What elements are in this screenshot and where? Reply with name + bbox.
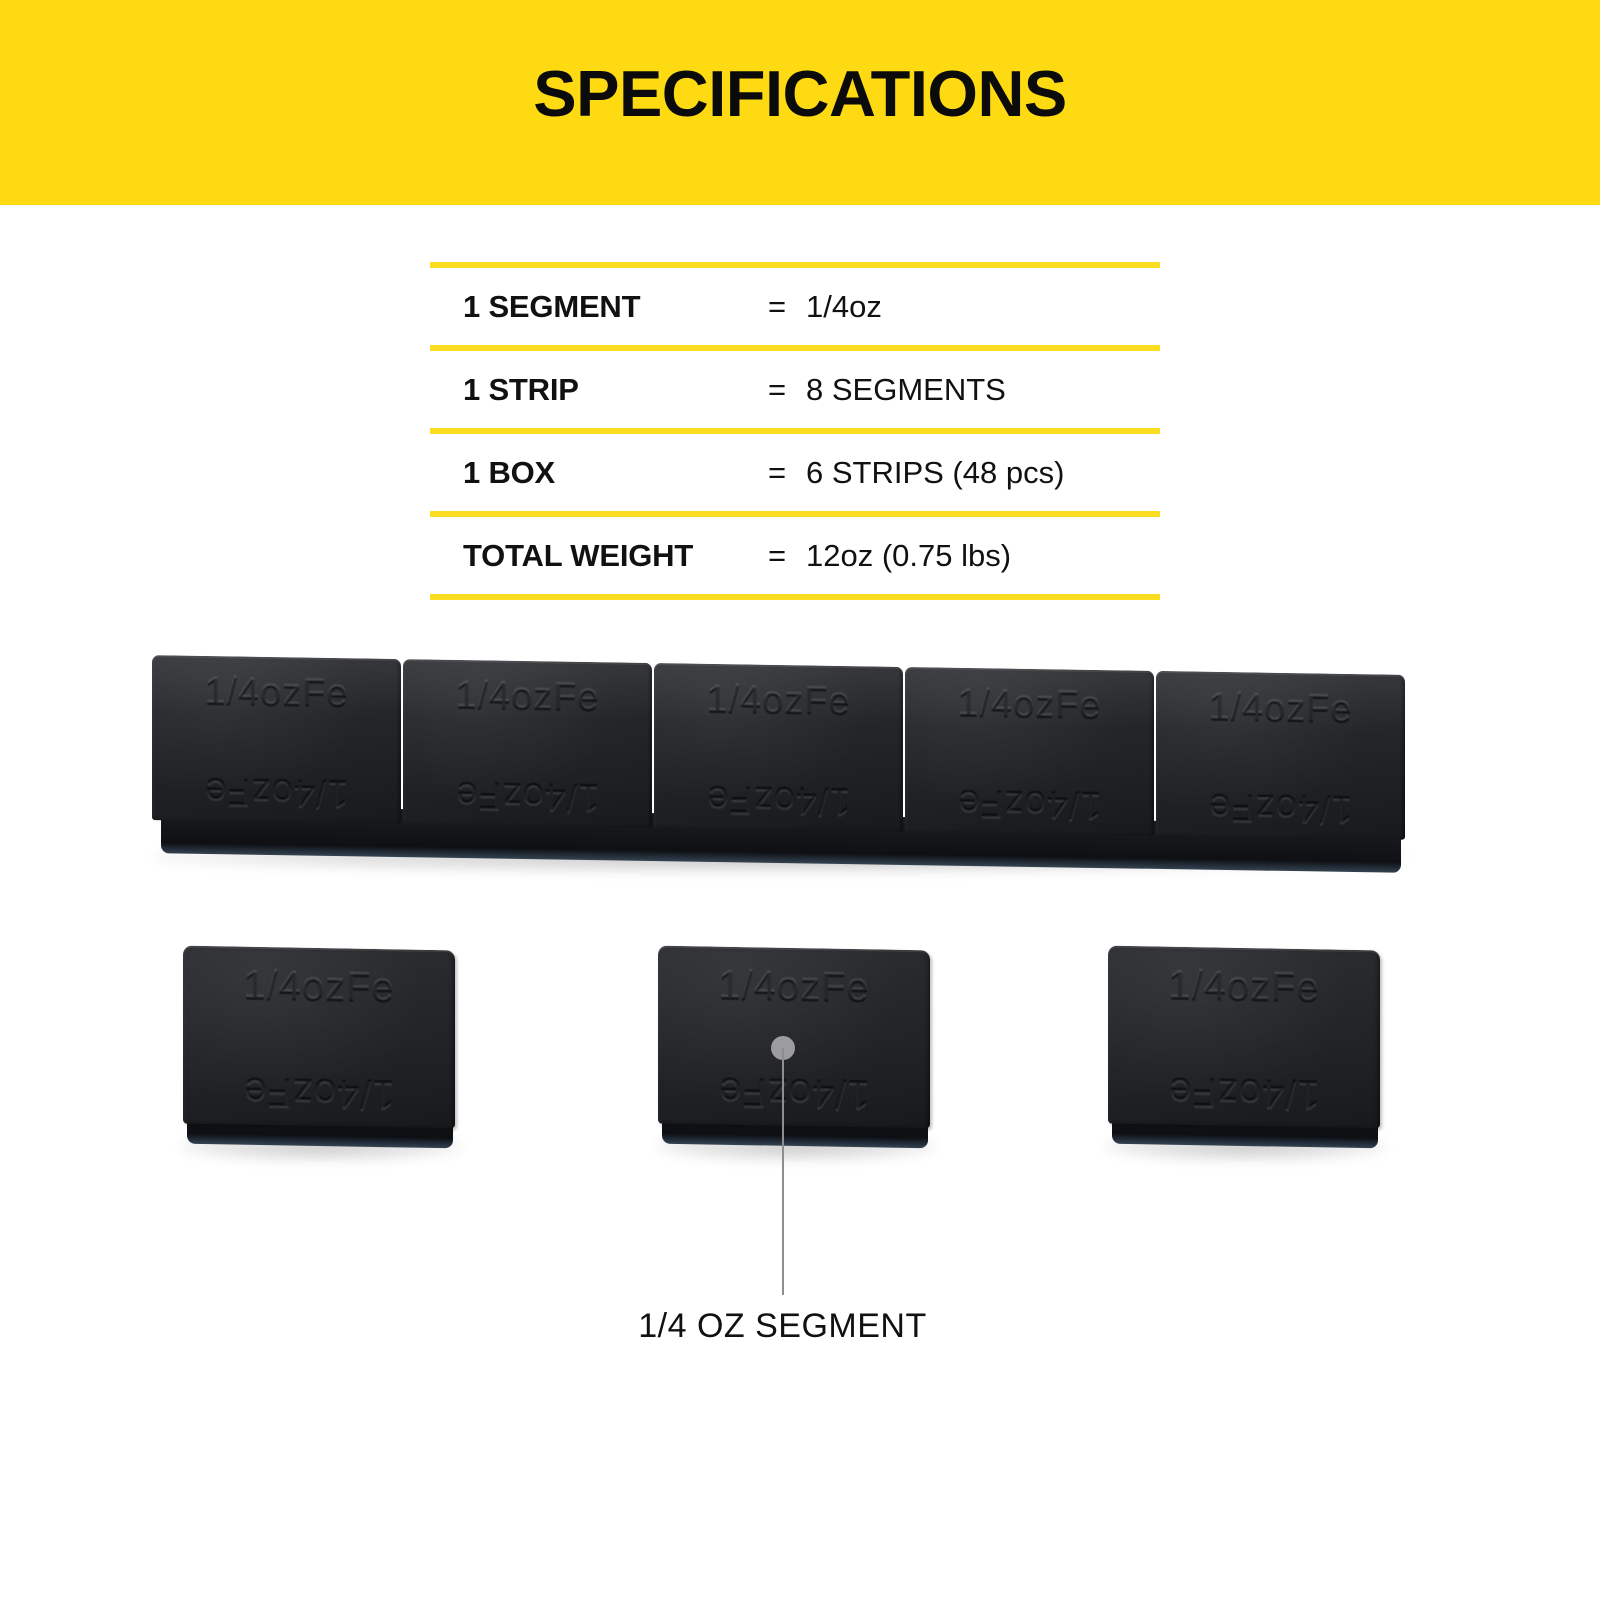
segment-emboss-bottom: 1/4ozFe: [1108, 1069, 1380, 1119]
equals-sign: =: [768, 538, 806, 574]
segment-emboss-top: 1/4ozFe: [403, 673, 652, 720]
table-row: 1 BOX = 6 STRIPS (48 pcs): [430, 434, 1160, 511]
table-row: 1 STRIP = 8 SEGMENTS: [430, 351, 1160, 428]
segment-emboss-top: 1/4ozFe: [1156, 685, 1405, 732]
strip-segment-row: 1/4ozFe 1/4ozFe 1/4ozFe 1/4ozFe 1/4ozFe …: [152, 655, 1407, 855]
segment-emboss-top: 1/4ozFe: [658, 962, 930, 1012]
spec-value: 8 SEGMENTS: [806, 372, 1006, 408]
segment-face: 1/4ozFe 1/4ozFe: [658, 946, 930, 1129]
strip-segment: 1/4ozFe 1/4ozFe: [403, 659, 652, 828]
segment-emboss-top: 1/4ozFe: [152, 669, 401, 716]
segment-emboss-top: 1/4ozFe: [183, 962, 455, 1012]
single-segment: 1/4ozFe 1/4ozFe: [650, 940, 940, 1175]
segment-emboss-bottom: 1/4ozFe: [183, 1069, 455, 1119]
equals-sign: =: [768, 372, 806, 408]
strip-segment: 1/4ozFe 1/4ozFe: [905, 667, 1154, 836]
segment-emboss-bottom: 1/4ozFe: [654, 777, 903, 824]
segment-face: 1/4ozFe 1/4ozFe: [183, 946, 455, 1129]
segment-emboss-top: 1/4ozFe: [905, 681, 1154, 728]
weight-strip: 1/4ozFe 1/4ozFe 1/4ozFe 1/4ozFe 1/4ozFe …: [152, 665, 1407, 880]
strip-segment: 1/4ozFe 1/4ozFe: [654, 663, 903, 832]
specifications-table: 1 SEGMENT = 1/4oz 1 STRIP = 8 SEGMENTS 1…: [430, 262, 1160, 600]
segment-emboss-bottom: 1/4ozFe: [1156, 785, 1405, 832]
segment-emboss-top: 1/4ozFe: [654, 677, 903, 724]
equals-sign: =: [768, 289, 806, 325]
page-title: SPECIFICATIONS: [0, 56, 1600, 131]
spec-value: 6 STRIPS (48 pcs): [806, 455, 1064, 491]
table-row: TOTAL WEIGHT = 12oz (0.75 lbs): [430, 517, 1160, 594]
strip-segment: 1/4ozFe 1/4ozFe: [1156, 671, 1405, 840]
table-row: 1 SEGMENT = 1/4oz: [430, 268, 1160, 345]
table-divider: [430, 594, 1160, 600]
spec-value: 1/4oz: [806, 289, 882, 325]
equals-sign: =: [768, 455, 806, 491]
spec-label: 1 BOX: [463, 455, 768, 491]
product-image-area: 1/4ozFe 1/4ozFe 1/4ozFe 1/4ozFe 1/4ozFe …: [0, 620, 1600, 1320]
segment-emboss-top: 1/4ozFe: [1108, 962, 1380, 1012]
segment-face: 1/4ozFe 1/4ozFe: [1108, 946, 1380, 1129]
segment-emboss-bottom: 1/4ozFe: [403, 773, 652, 820]
single-segment: 1/4ozFe 1/4ozFe: [175, 940, 465, 1175]
segment-emboss-bottom: 1/4ozFe: [658, 1069, 930, 1119]
single-segment: 1/4ozFe 1/4ozFe: [1100, 940, 1390, 1175]
header-banner: SPECIFICATIONS: [0, 0, 1600, 205]
segment-emboss-bottom: 1/4ozFe: [152, 769, 401, 816]
spec-value: 12oz (0.75 lbs): [806, 538, 1011, 574]
spec-label: 1 STRIP: [463, 372, 768, 408]
segment-emboss-bottom: 1/4ozFe: [905, 781, 1154, 828]
spec-label: TOTAL WEIGHT: [463, 538, 768, 574]
strip-segment: 1/4ozFe 1/4ozFe: [152, 655, 401, 824]
spec-label: 1 SEGMENT: [463, 289, 768, 325]
